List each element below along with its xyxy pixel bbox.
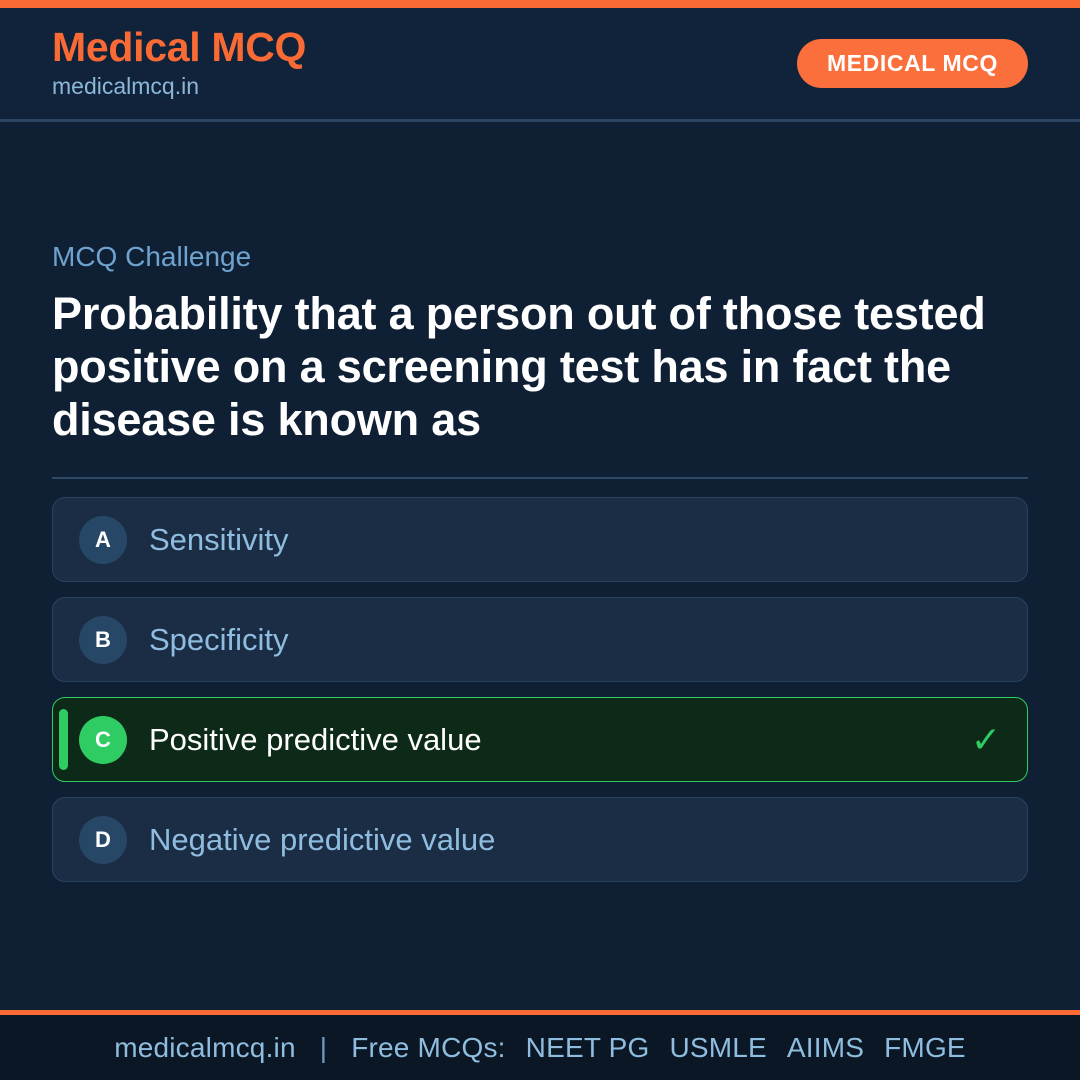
footer-exams-label: Free MCQs: [351, 1032, 505, 1063]
option-c-badge: C [79, 716, 127, 764]
question-text: Probability that a person out of those t… [52, 287, 1028, 446]
mcq-card: Medical MCQ medicalmcq.in MEDICAL MCQ MC… [0, 0, 1080, 1080]
top-accent-bar [0, 0, 1080, 8]
footer-exam-aiims: AIIMS [775, 1032, 864, 1063]
footer-exam-usmle: USMLE [657, 1032, 766, 1063]
header-badge: MEDICAL MCQ [797, 39, 1028, 88]
option-a-label: Sensitivity [149, 521, 289, 558]
option-c-label: Positive predictive value [149, 721, 482, 758]
brand-subtitle: medicalmcq.in [52, 72, 306, 102]
footer: medicalmcq.in | Free MCQs: NEET PG USMLE… [0, 1010, 1080, 1080]
option-d-badge: D [79, 816, 127, 864]
footer-exam-fmge: FMGE [872, 1032, 966, 1063]
footer-site: medicalmcq.in [114, 1032, 296, 1063]
options-list: A Sensitivity ✓ B Specificity ✓ C Positi… [52, 497, 1028, 882]
footer-text: medicalmcq.in | Free MCQs: NEET PG USMLE… [114, 1032, 966, 1064]
footer-exam-neetpg: NEET PG [514, 1032, 650, 1063]
option-b[interactable]: B Specificity ✓ [52, 597, 1028, 682]
kicker-label: MCQ Challenge [52, 242, 1028, 273]
question-divider [52, 477, 1028, 479]
correct-accent-bar [59, 709, 68, 770]
footer-exams: NEET PG USMLE AIIMS FMGE [514, 1032, 966, 1064]
option-a[interactable]: A Sensitivity ✓ [52, 497, 1028, 582]
footer-separator: | [304, 1032, 343, 1064]
check-icon: ✓ [971, 722, 1001, 758]
option-d-label: Negative predictive value [149, 821, 495, 858]
header: Medical MCQ medicalmcq.in MEDICAL MCQ [0, 8, 1080, 122]
option-c[interactable]: C Positive predictive value ✓ [52, 697, 1028, 782]
brand-title: Medical MCQ [52, 26, 306, 69]
option-d[interactable]: D Negative predictive value ✓ [52, 797, 1028, 882]
main-content: MCQ Challenge Probability that a person … [0, 122, 1080, 1010]
option-b-label: Specificity [149, 621, 289, 658]
option-a-badge: A [79, 516, 127, 564]
option-b-badge: B [79, 616, 127, 664]
brand-block: Medical MCQ medicalmcq.in [52, 26, 306, 102]
